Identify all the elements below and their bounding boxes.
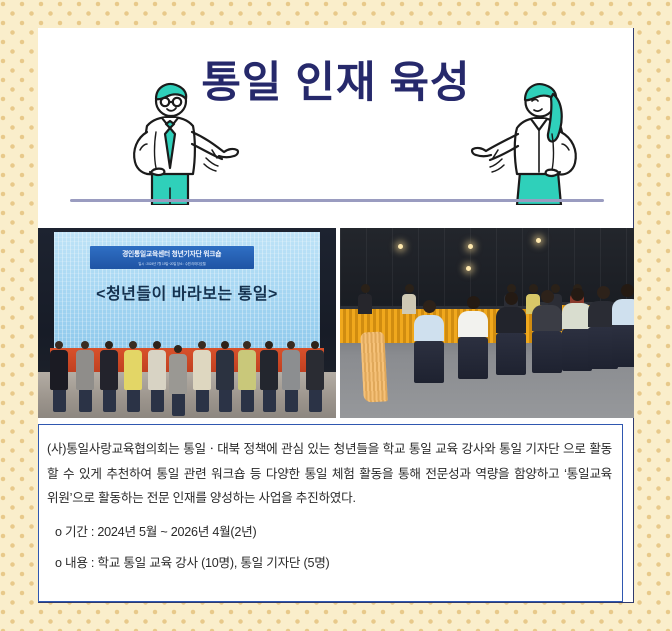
workshop-banner-title: 경인통일교육센터 청년기자단 워크숍 bbox=[122, 249, 221, 259]
photo-strip: 경인통일교육센터 청년기자단 워크숍 일시 : 2024년 7월 19일~20일… bbox=[38, 228, 634, 418]
crowd-person bbox=[148, 341, 166, 412]
crowd-person bbox=[238, 341, 256, 412]
crowd-person bbox=[260, 341, 278, 412]
workshop-banner: 경인통일교육센터 청년기자단 워크숍 일시 : 2024년 7월 19일~20일… bbox=[90, 246, 254, 269]
slide-card: 통일 인재 육성 경인통일교육센터 청년기자단 워크숍 일시 : 2024년 7… bbox=[38, 28, 634, 603]
bullet-content: o 내용 : 학교 통일 교육 강사 (10명), 통일 기자단 (5명) bbox=[55, 554, 612, 574]
description-paragraph: (사)통일사랑교육협의회는 통일ㆍ대북 정책에 관심 있는 청년들을 학교 통일… bbox=[47, 437, 612, 511]
bullet-period: o 기간 : 2024년 5월 ~ 2026년 4월(2년) bbox=[55, 523, 612, 543]
crowd-person bbox=[216, 341, 234, 412]
ceiling-light bbox=[398, 244, 403, 249]
ceiling-light bbox=[468, 244, 473, 249]
seated-attendee bbox=[496, 292, 526, 375]
seated-attendee bbox=[414, 300, 444, 383]
seated-attendee bbox=[612, 284, 634, 367]
page-title: 통일 인재 육성 bbox=[38, 62, 634, 105]
crowd-person bbox=[100, 341, 118, 412]
ceiling-light bbox=[466, 266, 471, 271]
workshop-banner-subtitle: 일시 : 2024년 7월 19일~20일 장소 : 수원 라마다호텔 bbox=[138, 261, 205, 266]
seated-attendee bbox=[532, 290, 562, 373]
crowd-person bbox=[76, 341, 94, 412]
crowd-person bbox=[306, 341, 324, 412]
hero-section: 통일 인재 육성 bbox=[38, 28, 634, 203]
description-bullet-list: o 기간 : 2024년 5월 ~ 2026년 4월(2년) o 내용 : 학교… bbox=[47, 523, 612, 574]
crowd-person bbox=[169, 345, 187, 416]
ceiling-light bbox=[536, 238, 541, 243]
seated-person-far bbox=[358, 284, 372, 314]
crowd-person bbox=[124, 341, 142, 412]
crowd-person bbox=[50, 341, 68, 412]
screen-slogan-text: <청년들이 바라보는 통일> bbox=[38, 280, 336, 304]
seated-attendee bbox=[458, 296, 488, 379]
conference-room-meeting-photo[interactable] bbox=[340, 228, 634, 418]
youth-reporter-workshop-group-photo[interactable]: 경인통일교육센터 청년기자단 워크숍 일시 : 2024년 7월 19일~20일… bbox=[38, 228, 336, 418]
crowd-person bbox=[282, 341, 300, 412]
crowd-person bbox=[193, 341, 211, 412]
table-drape bbox=[360, 331, 388, 402]
hero-baseline-divider bbox=[70, 199, 604, 202]
description-text-box: (사)통일사랑교육협의회는 통일ㆍ대북 정책에 관심 있는 청년들을 학교 통일… bbox=[38, 424, 623, 602]
